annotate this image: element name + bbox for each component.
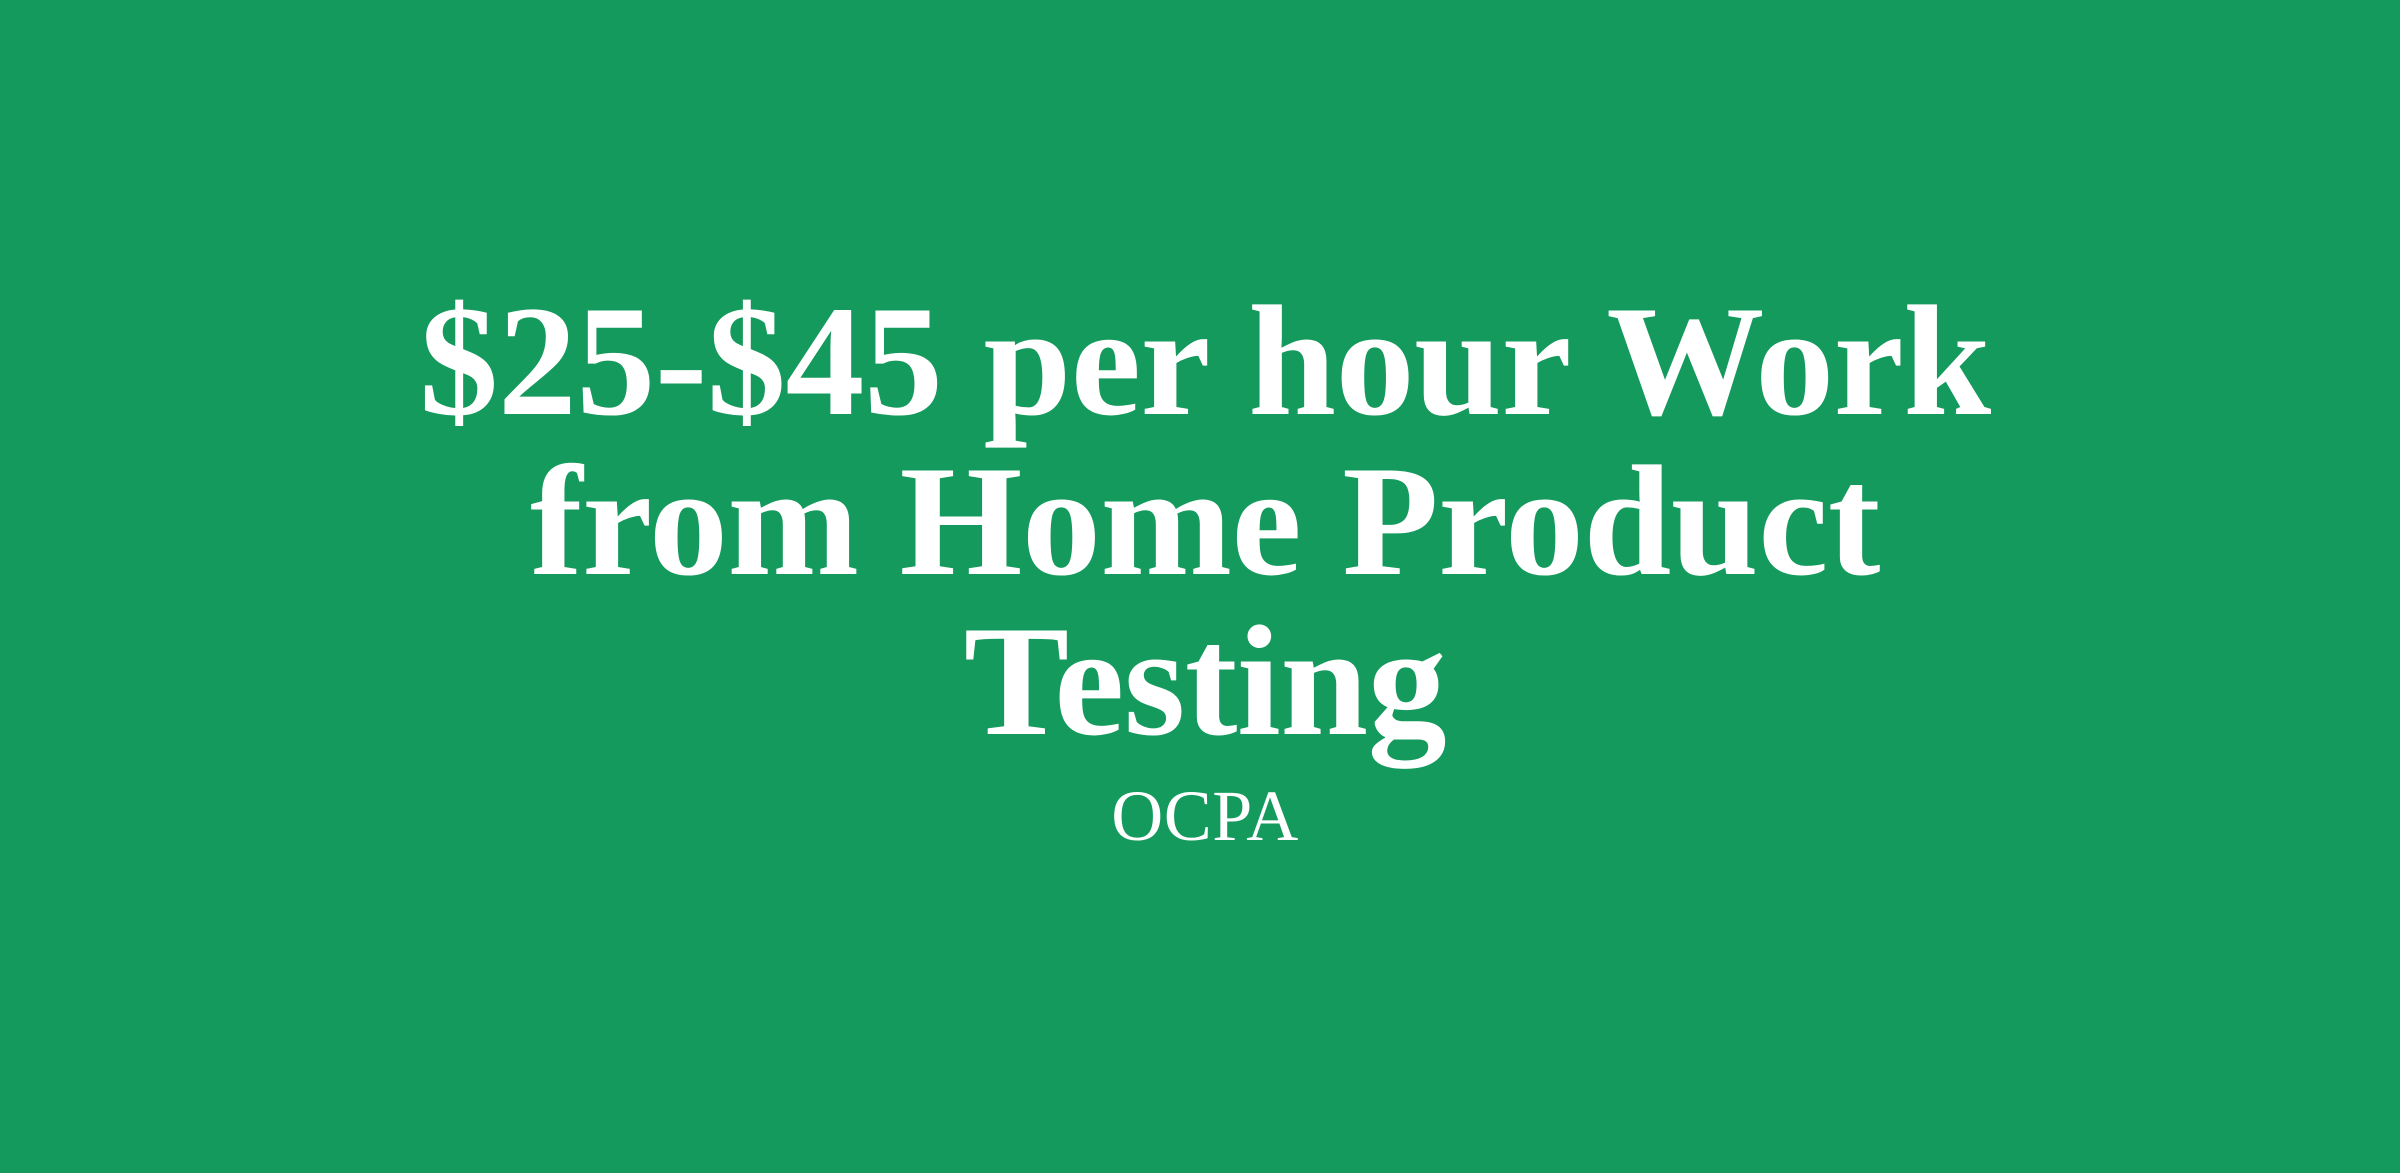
page-title: $25-$45 per hour Work from Home Product …: [325, 282, 2085, 762]
share-card: $25-$45 per hour Work from Home Product …: [0, 0, 2400, 1173]
subtitle-source-name: OCPA: [1111, 776, 1298, 856]
text-block: $25-$45 per hour Work from Home Product …: [275, 282, 2135, 856]
